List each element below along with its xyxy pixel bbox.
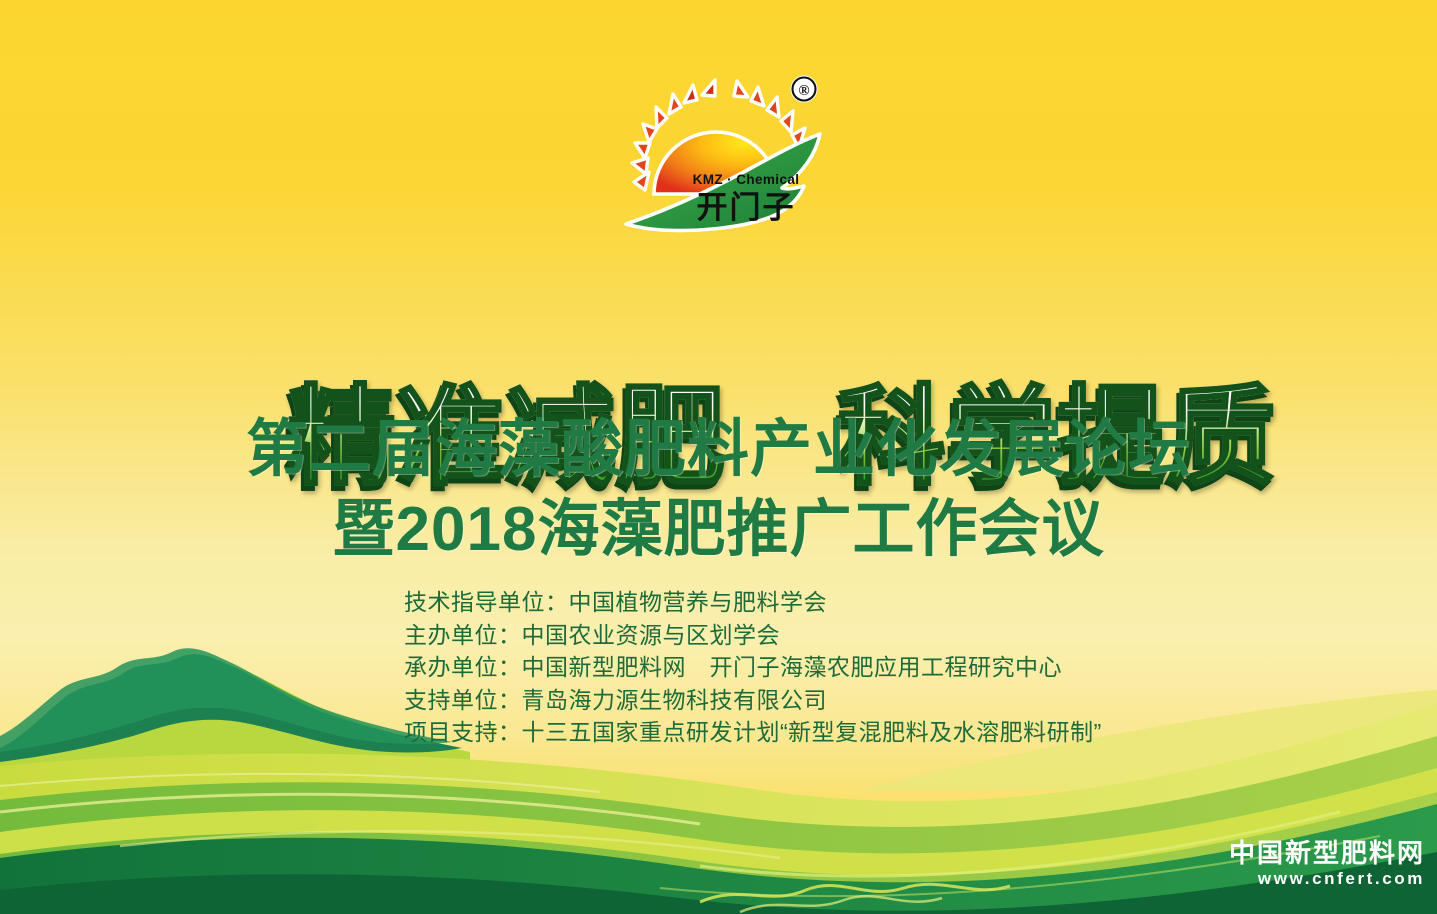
watermark-url: www.cnfert.com [1229,868,1425,890]
watermark-site-name: 中国新型肥料网 [1229,839,1425,868]
conference-poster: ® KMZ · Chemical 开门子 精准减肥 科学提质 第二届海藻酸肥料产… [0,0,1437,914]
kmz-logo-graphic: ® KMZ · Chemical 开门子 [616,62,841,247]
brand-en-text: KMZ · Chemical [693,172,800,187]
organizer-line: 支持单位：青岛海力源生物科技有限公司 [404,684,1164,717]
registered-trademark-icon: ® [791,76,818,103]
trademark-letter: ® [798,83,809,99]
organizer-list: 技术指导单位：中国植物营养与肥料学会 主办单位：中国农业资源与区划学会 承办单位… [404,586,1164,749]
organizer-line: 项目支持：十三五国家重点研发计划“新型复混肥料及水溶肥料研制” [404,716,1164,749]
organizer-line: 承办单位：中国新型肥料网 开门子海藻农肥应用工程研究中心 [404,651,1164,684]
organizer-line: 技术指导单位：中国植物营养与肥料学会 [404,586,1164,619]
brand-cn-text: 开门子 [697,190,796,226]
site-watermark: 中国新型肥料网 www.cnfert.com [1229,839,1425,890]
subtitle-line-1: 第二届海藻酸肥料产业化发展论坛 [0,398,1437,488]
subtitle-line-2: 暨2018海藻肥推广工作会议 [0,478,1437,568]
organizer-line: 主办单位：中国农业资源与区划学会 [404,619,1164,652]
company-logo: ® KMZ · Chemical 开门子 [616,62,841,247]
